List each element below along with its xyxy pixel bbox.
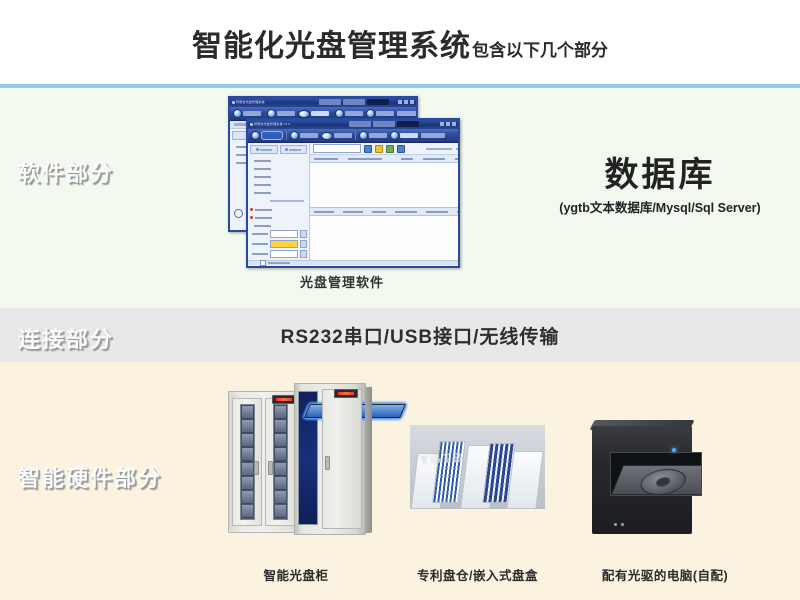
form-label	[255, 209, 272, 211]
disc-shelf	[242, 406, 253, 419]
meta-text	[456, 148, 460, 150]
database-block: 数据库 (ygtb文本数据库/Mysql/Sql Server)	[520, 158, 800, 216]
toolbar-button-export[interactable]	[267, 109, 295, 118]
window-tab[interactable]	[349, 121, 371, 127]
window-tab[interactable]	[319, 99, 341, 105]
column-header[interactable]	[372, 211, 386, 213]
toolbar-button-disc[interactable]	[321, 132, 352, 140]
page-title-main: 智能化光盘管理系统	[192, 21, 471, 65]
form-row-required	[250, 214, 307, 221]
window-tab[interactable]	[343, 99, 365, 105]
field-label	[252, 243, 268, 245]
form-row-required	[250, 206, 307, 213]
disc-icon	[298, 110, 310, 118]
toolbar-button-import[interactable]	[233, 109, 261, 118]
disc-shelf	[242, 463, 253, 476]
form-label	[255, 217, 272, 219]
cabinet-glass-panel	[273, 404, 288, 520]
window-controls	[440, 122, 456, 126]
form-row	[250, 189, 307, 196]
cabinet-side-panel	[365, 387, 372, 534]
toolbar-label	[334, 133, 352, 138]
section-label-software: 软件部分	[18, 156, 114, 188]
form-label	[254, 160, 271, 162]
column-header[interactable]	[395, 211, 417, 213]
field-label	[252, 233, 268, 235]
cabinet-door-solid	[322, 389, 362, 529]
hardware-caption-bin: 专利盘仓/嵌入式盘盒	[400, 565, 555, 584]
search-icon[interactable]	[234, 209, 243, 218]
disc-shelf	[242, 434, 253, 447]
disc-shelf	[275, 434, 286, 447]
window-tab-selected[interactable]	[397, 121, 419, 127]
reset-button-icon[interactable]	[621, 523, 624, 526]
computer-case	[592, 426, 692, 534]
tab-icon	[256, 148, 259, 151]
minimize-icon[interactable]	[440, 122, 444, 126]
form-field-highlighted[interactable]	[250, 240, 307, 248]
led-segment	[276, 398, 292, 401]
tab-icon	[285, 148, 288, 151]
connection-methods-text: RS232串口/USB接口/无线传输	[0, 322, 800, 349]
watermark-text: YGTB	[420, 449, 465, 467]
export-icon	[267, 109, 276, 118]
field-label	[252, 253, 268, 255]
close-icon[interactable]	[410, 100, 414, 104]
window-title-text: 智能化光盘管理系统	[236, 98, 265, 107]
disc-shelf	[275, 505, 286, 518]
cabinet-lit-interior	[298, 391, 318, 525]
column-header[interactable]	[348, 158, 382, 160]
toolbar-button-system[interactable]	[366, 109, 394, 118]
door-handle	[325, 456, 330, 470]
cabinet-glass-door	[228, 391, 300, 533]
toolbar-button-export[interactable]	[290, 131, 318, 140]
database-title: 数据库	[520, 158, 800, 194]
toolbar-label	[376, 111, 394, 116]
app-window-front: 智能化光盘管理系统 v1.0	[246, 118, 460, 268]
cabinet-door-left	[232, 398, 262, 526]
column-header[interactable]	[455, 158, 460, 160]
toolbar-separator	[355, 131, 356, 140]
table-body-bottom[interactable]	[310, 216, 460, 260]
cabinet-led-lit	[294, 383, 366, 535]
form-label	[254, 168, 271, 170]
window-title-text: 智能化光盘管理系统 v1.0	[254, 120, 290, 129]
checkbox-label	[268, 262, 290, 264]
disc-shelf	[242, 448, 253, 461]
disc-shelf	[275, 420, 286, 433]
disc-shelf	[275, 477, 286, 490]
form-hint	[270, 200, 304, 202]
disc-shelf	[275, 406, 286, 419]
led-display	[334, 389, 358, 398]
form-field[interactable]	[250, 250, 307, 258]
disc-shelf	[242, 420, 253, 433]
meta-text	[426, 148, 452, 150]
computer-optical-drive-photo	[580, 418, 710, 536]
window-tab-strip	[319, 99, 389, 105]
disc-shelf	[242, 477, 253, 490]
led-segment	[338, 392, 354, 395]
poster-root: 智能化光盘管理系统 包含以下几个部分 软件部分 智能化光盘管理系统	[0, 0, 800, 600]
form-row	[250, 165, 307, 172]
maximize-icon[interactable]	[404, 100, 408, 104]
refresh-icon[interactable]	[386, 145, 394, 153]
disc-shelf	[275, 491, 286, 504]
toolbar-button-settings[interactable]	[359, 131, 387, 140]
form-label	[254, 192, 271, 194]
optical-drive-tray	[611, 465, 702, 495]
toolbar-label	[397, 111, 418, 116]
front-panel-buttons[interactable]	[614, 523, 624, 526]
window-titlebar: 智能化光盘管理系统 v1.0	[248, 120, 458, 129]
toolbar-label	[261, 131, 283, 140]
window-body	[248, 143, 458, 260]
toolbar-label	[369, 133, 387, 138]
software-screenshot: 智能化光盘管理系统	[228, 96, 456, 264]
right-content-panel	[310, 143, 460, 260]
form-row	[250, 222, 307, 229]
toolbar-label	[400, 133, 418, 138]
tab-label	[260, 149, 272, 151]
checkbox-icon[interactable]	[260, 260, 266, 266]
toolbar-label	[421, 133, 445, 138]
column-header[interactable]	[423, 158, 445, 160]
panel-tab-advanced[interactable]	[280, 145, 308, 154]
toolbar-button-settings[interactable]	[335, 109, 363, 118]
toolbar-label	[243, 111, 261, 116]
print-icon[interactable]	[397, 145, 405, 153]
disc-shelf	[242, 505, 253, 518]
search-button-icon[interactable]	[364, 145, 372, 153]
table-body-top[interactable]	[310, 163, 460, 207]
toolbar-button-system[interactable]	[390, 131, 418, 140]
window-toolbar	[248, 129, 458, 143]
form-field[interactable]	[250, 230, 307, 238]
door-handle	[254, 461, 259, 475]
column-header[interactable]	[314, 158, 338, 160]
optical-drive-bay	[610, 452, 702, 496]
window-app-icon	[250, 123, 253, 126]
required-marker-icon	[250, 208, 253, 211]
hardware-caption-cabinet: 智能光盘柜	[216, 565, 376, 584]
form-label	[254, 184, 271, 186]
import-icon	[233, 109, 242, 118]
table-header-top	[310, 155, 460, 163]
search-bar	[310, 143, 460, 155]
power-button-icon[interactable]	[614, 523, 617, 526]
column-header[interactable]	[343, 211, 363, 213]
software-screenshot-caption: 光盘管理软件	[228, 272, 456, 291]
led-display	[272, 395, 296, 404]
window-tab-selected[interactable]	[367, 99, 389, 105]
cabinet-glass-panel	[240, 404, 255, 520]
maximize-icon[interactable]	[446, 122, 450, 126]
picker-button[interactable]	[300, 250, 307, 258]
left-form-panel	[248, 143, 310, 260]
column-header[interactable]	[314, 211, 334, 213]
disc-shelf	[275, 448, 286, 461]
hardware-caption-computer: 配有光驱的电脑(自配)	[570, 565, 760, 584]
search-input[interactable]	[313, 144, 361, 153]
door-handle	[268, 461, 273, 475]
page-title: 智能化光盘管理系统 包含以下几个部分	[192, 21, 608, 65]
disc-shelf	[275, 463, 286, 476]
filter-icon[interactable]	[375, 145, 383, 153]
toolbar-label	[300, 133, 318, 138]
form-checkbox[interactable]	[260, 260, 307, 266]
system-icon	[390, 131, 399, 140]
form-row	[250, 181, 307, 188]
column-header[interactable]	[457, 211, 460, 213]
tab-label	[289, 149, 301, 151]
table-header-bottom	[310, 207, 460, 216]
text-input-active[interactable]	[270, 240, 298, 248]
toolbar-label	[311, 111, 329, 116]
power-led-icon	[672, 448, 676, 452]
page-title-subtitle: 包含以下几个部分	[472, 36, 608, 61]
form-row	[250, 173, 307, 180]
cabinet-door-right	[265, 398, 295, 526]
text-input[interactable]	[270, 250, 298, 258]
minimize-icon[interactable]	[398, 100, 402, 104]
panel-tabs	[250, 145, 307, 154]
picker-button[interactable]	[300, 230, 307, 238]
toolbar-label	[277, 111, 295, 116]
database-subtitle: (ygtb文本数据库/Mysql/Sql Server)	[520, 197, 800, 216]
disc-icon	[321, 132, 333, 140]
close-icon[interactable]	[452, 122, 456, 126]
gear-icon	[335, 109, 344, 118]
page-header: 智能化光盘管理系统 包含以下几个部分	[0, 0, 800, 85]
export-icon	[290, 131, 299, 140]
window-app-icon	[232, 101, 235, 104]
window-tab[interactable]	[373, 121, 395, 127]
toolbar-button-import[interactable]	[251, 131, 283, 140]
text-input[interactable]	[270, 230, 298, 238]
toolbar-button-query[interactable]	[298, 110, 329, 118]
form-row	[250, 157, 307, 164]
window-controls	[398, 100, 414, 104]
form-label	[254, 225, 271, 227]
toolbar-button-exit[interactable]	[397, 111, 418, 116]
disc-shelf	[242, 491, 253, 504]
disc-bin-photo: YGTB	[410, 425, 545, 509]
picker-button[interactable]	[300, 240, 307, 248]
search-meta	[426, 148, 460, 150]
import-icon	[251, 131, 260, 140]
panel-tab-basic[interactable]	[250, 145, 278, 154]
gear-icon	[359, 131, 368, 140]
toolbar-separator	[286, 131, 287, 140]
toolbar-button-exit[interactable]	[421, 133, 445, 138]
column-header[interactable]	[426, 211, 448, 213]
column-header[interactable]	[401, 158, 413, 160]
disc-cabinet-photo	[216, 381, 376, 539]
window-titlebar: 智能化光盘管理系统	[230, 98, 416, 107]
system-icon	[366, 109, 375, 118]
form-label	[254, 176, 271, 178]
section-label-hardware: 智能硬件部分	[18, 461, 162, 493]
toolbar-label	[345, 111, 363, 116]
required-marker-icon	[250, 216, 253, 219]
window-tab-strip	[349, 121, 419, 127]
